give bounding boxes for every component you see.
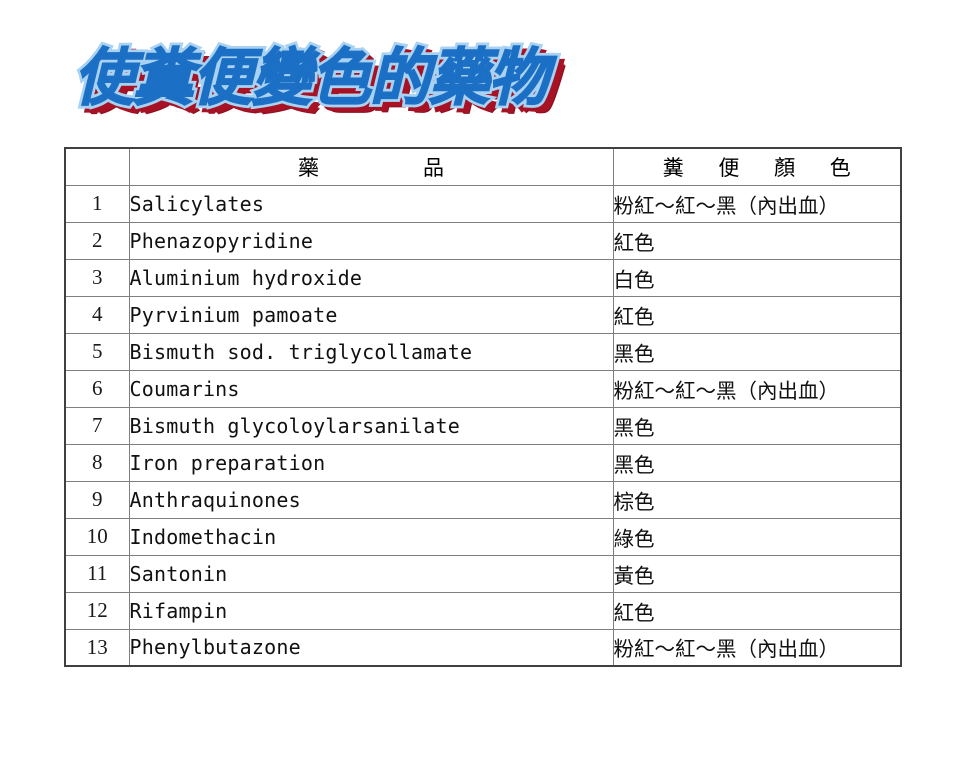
row-number: 11 bbox=[65, 555, 129, 592]
drug-name: Pyrvinium pamoate bbox=[129, 296, 613, 333]
table-row: 1Salicylates粉紅～紅～黑（內出血） bbox=[65, 185, 901, 222]
stool-color: 白色 bbox=[613, 259, 901, 296]
header-drug-right: 品 bbox=[423, 156, 444, 180]
drug-name: Santonin bbox=[129, 555, 613, 592]
drug-name: Indomethacin bbox=[129, 518, 613, 555]
header-number bbox=[65, 148, 129, 185]
table-row: 3Aluminium hydroxide白色 bbox=[65, 259, 901, 296]
row-number: 9 bbox=[65, 481, 129, 518]
drug-name: Bismuth glycoloylarsanilate bbox=[129, 407, 613, 444]
row-number: 2 bbox=[65, 222, 129, 259]
row-number: 3 bbox=[65, 259, 129, 296]
table-row: 10Indomethacin綠色 bbox=[65, 518, 901, 555]
table-row: 4Pyrvinium pamoate紅色 bbox=[65, 296, 901, 333]
drug-name: Rifampin bbox=[129, 592, 613, 629]
row-number: 12 bbox=[65, 592, 129, 629]
header-drug: 藥品 bbox=[129, 148, 613, 185]
stool-color: 黑色 bbox=[613, 333, 901, 370]
table-row: 8Iron preparation黑色 bbox=[65, 444, 901, 481]
drug-name: Aluminium hydroxide bbox=[129, 259, 613, 296]
slide-title: 使糞便變色的藥物 使糞便變色的藥物 使糞便變色的藥物 bbox=[74, 38, 594, 130]
table-row: 6Coumarins粉紅～紅～黑（內出血） bbox=[65, 370, 901, 407]
table-row: 5Bismuth sod. triglycollamate黑色 bbox=[65, 333, 901, 370]
stool-color: 綠色 bbox=[613, 518, 901, 555]
drug-name: Coumarins bbox=[129, 370, 613, 407]
stool-color: 粉紅～紅～黑（內出血） bbox=[613, 629, 901, 666]
stool-color: 粉紅～紅～黑（內出血） bbox=[613, 370, 901, 407]
drug-name: Phenazopyridine bbox=[129, 222, 613, 259]
row-number: 4 bbox=[65, 296, 129, 333]
row-number: 13 bbox=[65, 629, 129, 666]
table-row: 13Phenylbutazone粉紅～紅～黑（內出血） bbox=[65, 629, 901, 666]
table-header-row: 藥品 糞 便 顏 色 bbox=[65, 148, 901, 185]
row-number: 1 bbox=[65, 185, 129, 222]
table-row: 7Bismuth glycoloylarsanilate黑色 bbox=[65, 407, 901, 444]
row-number: 6 bbox=[65, 370, 129, 407]
header-stool-color: 糞 便 顏 色 bbox=[613, 148, 901, 185]
stool-color: 紅色 bbox=[613, 296, 901, 333]
drug-name: Anthraquinones bbox=[129, 481, 613, 518]
stool-color: 黑色 bbox=[613, 407, 901, 444]
row-number: 8 bbox=[65, 444, 129, 481]
header-drug-left: 藥 bbox=[298, 156, 319, 180]
table-row: 11Santonin黃色 bbox=[65, 555, 901, 592]
table-row: 2Phenazopyridine紅色 bbox=[65, 222, 901, 259]
drug-name: Bismuth sod. triglycollamate bbox=[129, 333, 613, 370]
drug-name: Salicylates bbox=[129, 185, 613, 222]
row-number: 5 bbox=[65, 333, 129, 370]
drug-name: Iron preparation bbox=[129, 444, 613, 481]
row-number: 10 bbox=[65, 518, 129, 555]
stool-color: 黑色 bbox=[613, 444, 901, 481]
drug-name: Phenylbutazone bbox=[129, 629, 613, 666]
drug-stool-color-table: 藥品 糞 便 顏 色 1Salicylates粉紅～紅～黑（內出血）2Phena… bbox=[64, 147, 902, 667]
title-text: 使糞便變色的藥物 bbox=[74, 38, 578, 118]
row-number: 7 bbox=[65, 407, 129, 444]
stool-color: 紅色 bbox=[613, 222, 901, 259]
table-row: 9Anthraquinones棕色 bbox=[65, 481, 901, 518]
slide-canvas: 使糞便變色的藥物 使糞便變色的藥物 使糞便變色的藥物 藥品 糞 便 顏 色 1S… bbox=[0, 0, 960, 774]
stool-color: 黃色 bbox=[613, 555, 901, 592]
stool-color: 粉紅～紅～黑（內出血） bbox=[613, 185, 901, 222]
stool-color: 紅色 bbox=[613, 592, 901, 629]
table-row: 12Rifampin紅色 bbox=[65, 592, 901, 629]
stool-color: 棕色 bbox=[613, 481, 901, 518]
